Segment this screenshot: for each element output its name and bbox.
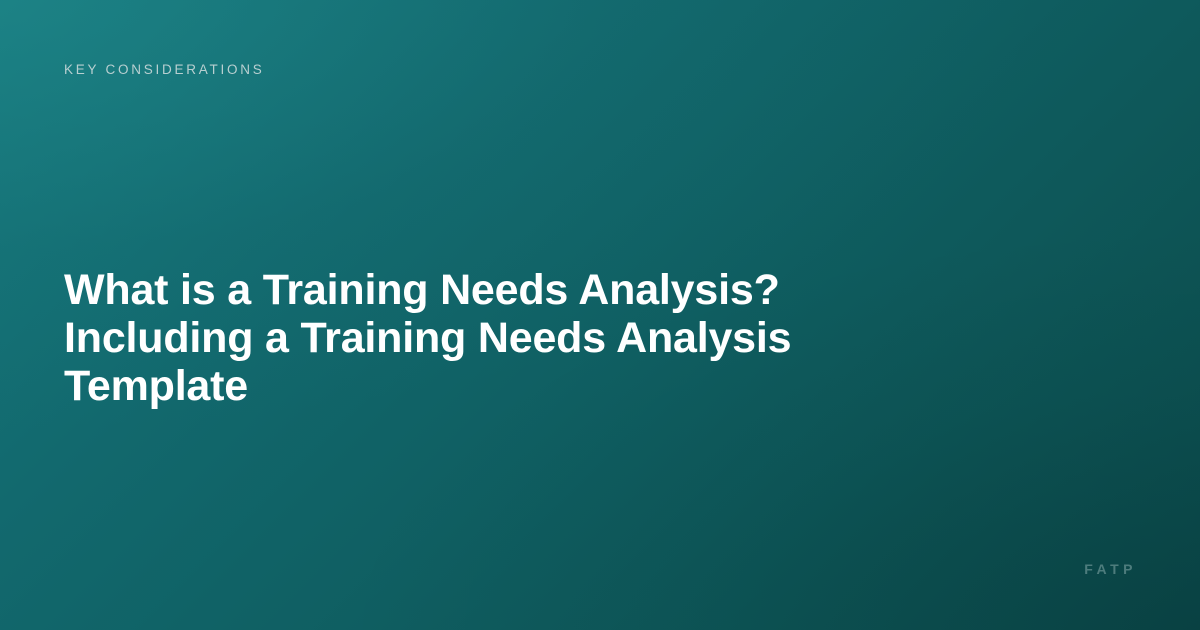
card-headline: What is a Training Needs Analysis? Inclu… bbox=[64, 266, 964, 410]
card-eyebrow-label: KEY CONSIDERATIONS bbox=[64, 60, 265, 80]
brand-watermark: FATP bbox=[1084, 560, 1137, 578]
social-share-card: KEY CONSIDERATIONS What is a Training Ne… bbox=[0, 0, 1200, 630]
card-content: KEY CONSIDERATIONS What is a Training Ne… bbox=[0, 0, 1200, 630]
